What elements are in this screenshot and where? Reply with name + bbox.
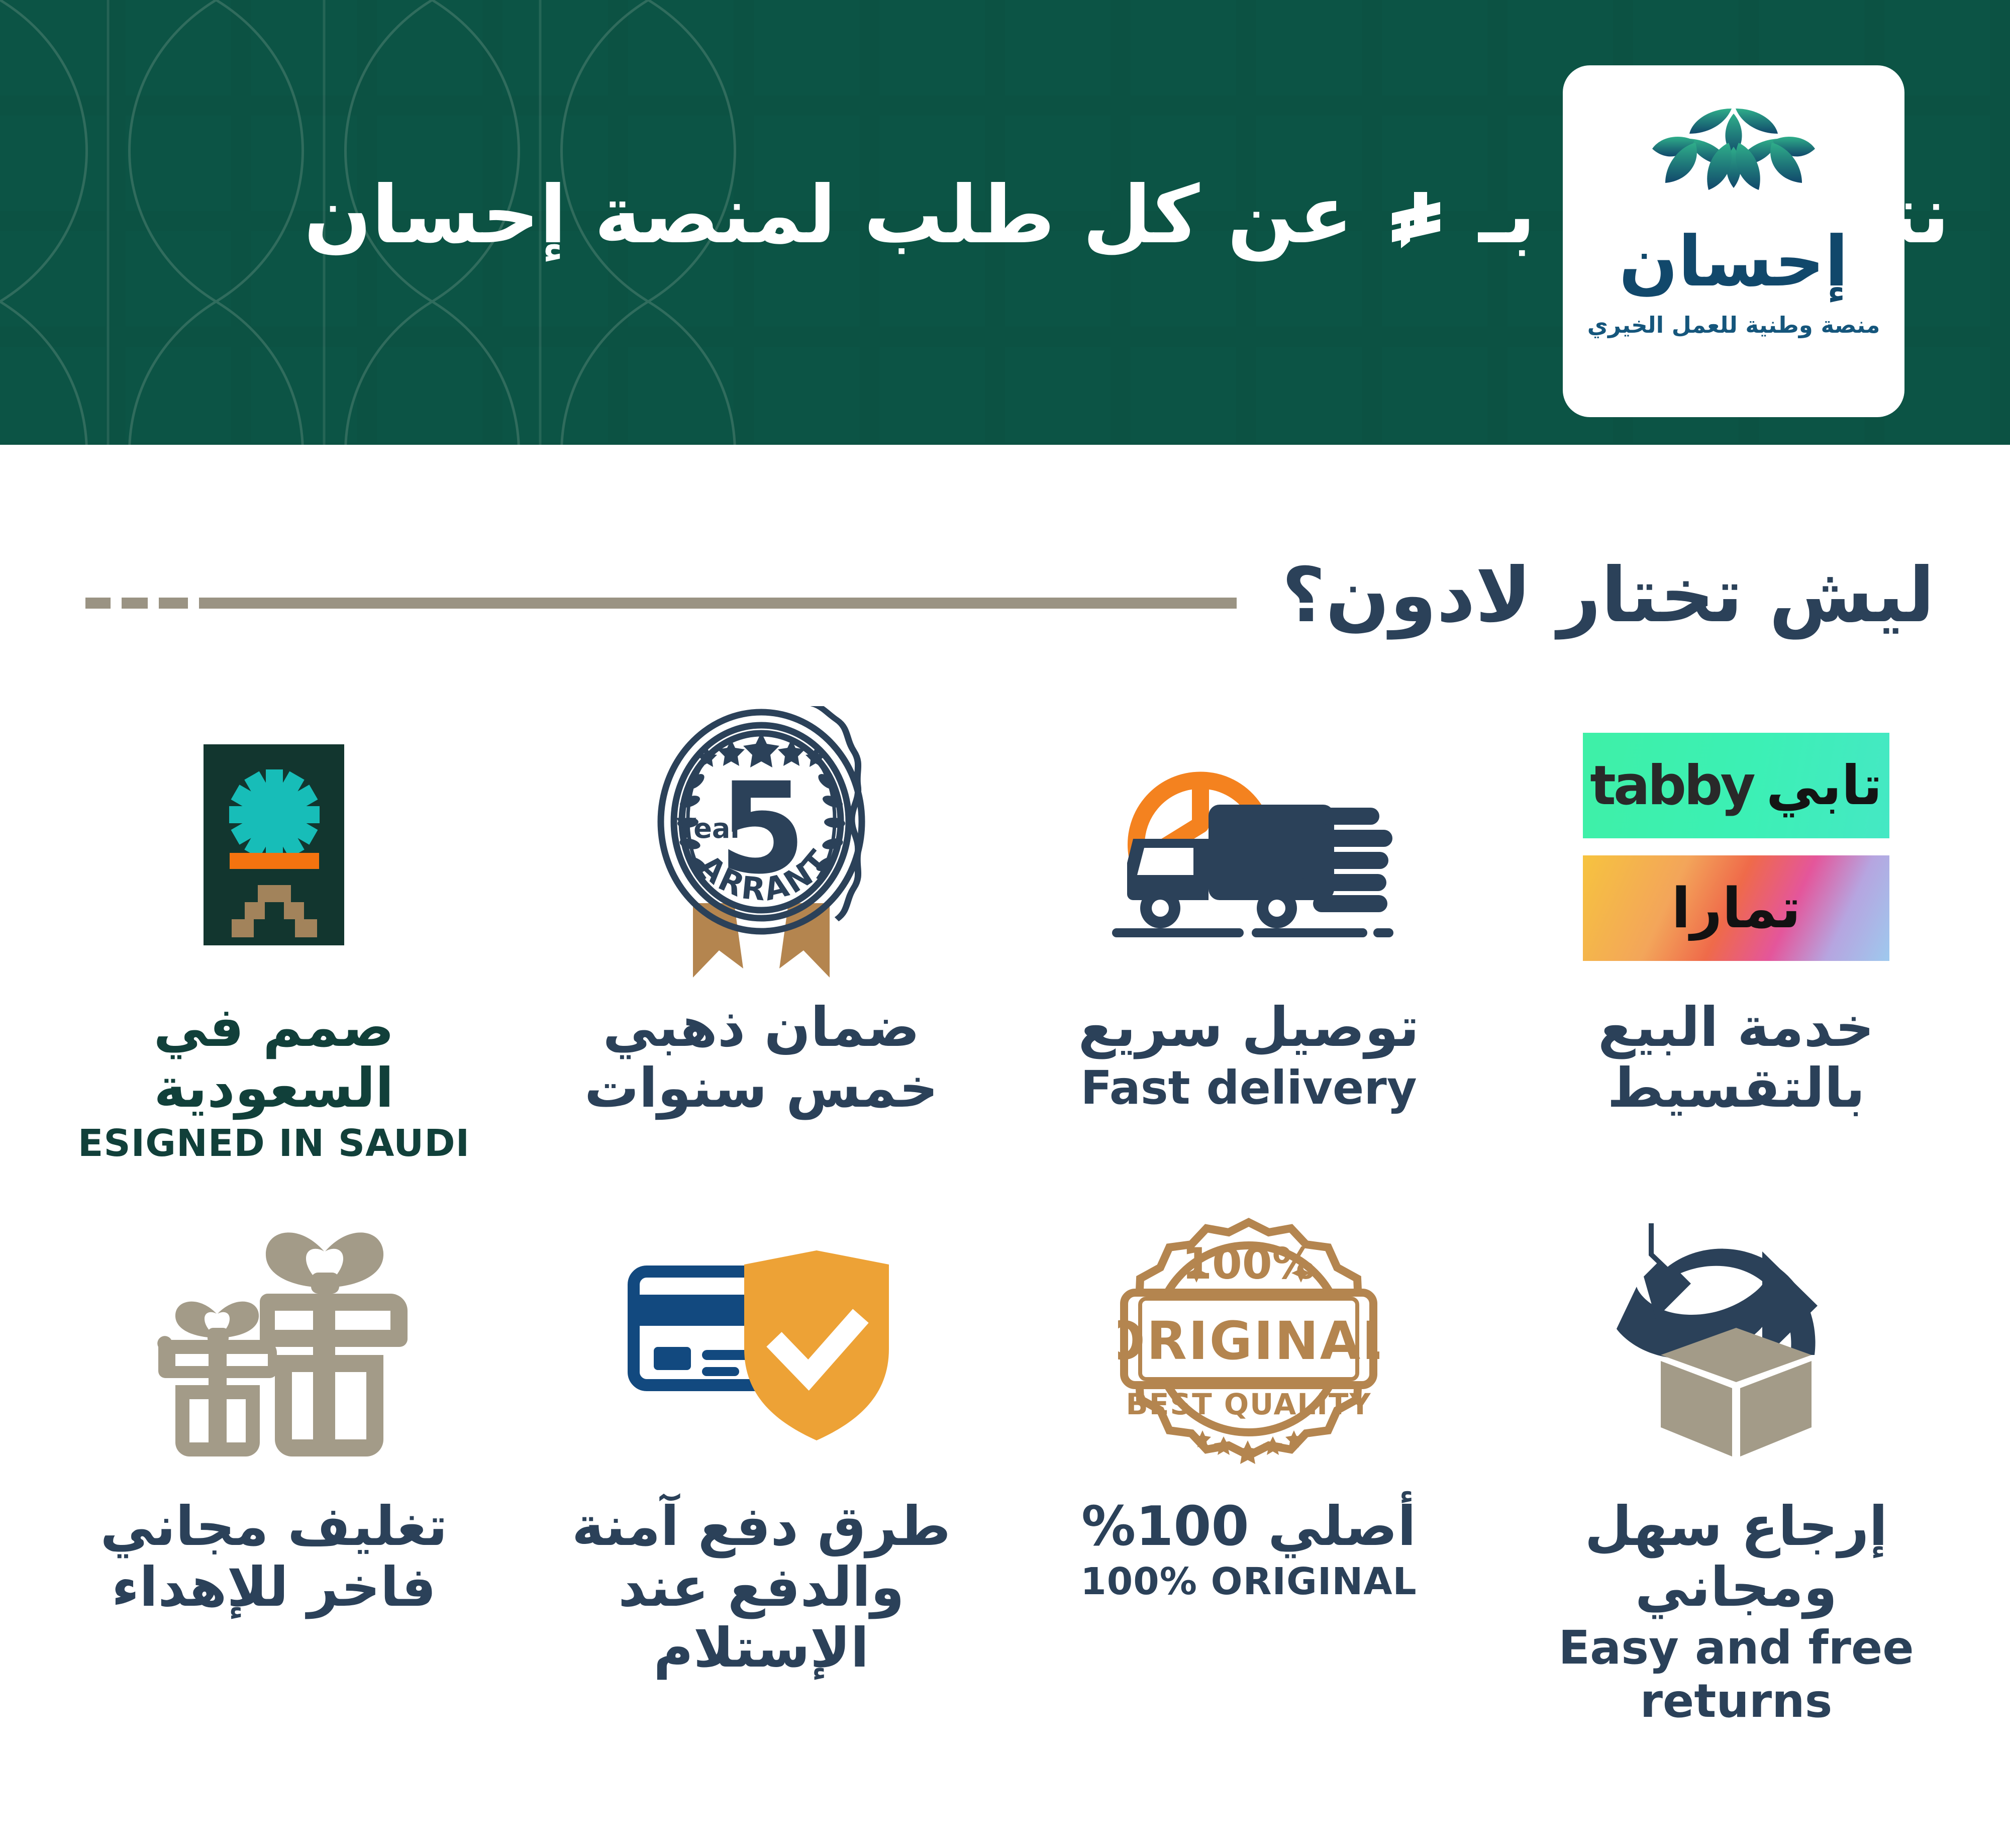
tabby-latin-wordmark: tabby bbox=[1590, 754, 1753, 817]
divider-dash-1 bbox=[159, 598, 188, 609]
feature-fast-delivery-label-en: Fast delivery bbox=[1078, 1061, 1419, 1115]
five-year-warranty-badge-icon: 5 Year WARRANTY bbox=[631, 696, 892, 998]
feature-installments-label-ar: خدمة البيع بالتقسيط bbox=[1598, 998, 1874, 1119]
feature-designed-in-saudi-labels: صمم في السعودية ESIGNED IN SAUDI bbox=[78, 998, 470, 1165]
feature-fast-delivery-labels: توصيل سريع Fast delivery bbox=[1078, 998, 1419, 1115]
feature-secure-payment-labels: طرق دفع آمنة والدفع عند الإستلام bbox=[518, 1497, 1005, 1679]
divider-dash-3 bbox=[85, 598, 111, 609]
feature-secure-payment: طرق دفع آمنة والدفع عند الإستلام bbox=[518, 1195, 1005, 1728]
page-title: ليش تختار لادون؟ bbox=[1282, 552, 1935, 639]
feature-original-label-en: 100% ORIGINAL bbox=[1080, 1561, 1417, 1603]
title-divider bbox=[85, 582, 1237, 609]
original-stamp-top: 100% bbox=[1182, 1239, 1316, 1289]
feature-free-gift-wrap: تغليف مجاني فاخر للإهداء bbox=[30, 1195, 518, 1728]
saudi-riyal-symbol-icon bbox=[1384, 175, 1448, 235]
installment-payment-logos-icon: تابي tabby تمارا bbox=[1583, 696, 1889, 998]
tamara-logo-icon: تمارا bbox=[1583, 855, 1889, 961]
ehsan-logo-card: إحسان منصة وطنية للعمل الخيري bbox=[1563, 65, 1904, 417]
warranty-badge-unit: Year bbox=[676, 813, 744, 844]
feature-installments-labels: خدمة البيع بالتقسيط bbox=[1598, 998, 1874, 1119]
tamara-arabic-wordmark: تمارا bbox=[1671, 876, 1800, 940]
feature-original-label-ar: أصلي 100% bbox=[1080, 1497, 1417, 1558]
features-grid: تابي tabby تمارا خدمة البيع بالتقسيط bbox=[0, 686, 2010, 1748]
feature-free-gift-wrap-label-ar: تغليف مجاني فاخر للإهداء bbox=[100, 1497, 448, 1618]
feature-designed-in-saudi-label-en: ESIGNED IN SAUDI bbox=[78, 1122, 470, 1165]
feature-easy-returns: إرجاع سهل ومجاني Easy and free returns bbox=[1492, 1195, 1980, 1728]
feature-fast-delivery: توصيل سريع Fast delivery bbox=[1005, 696, 1492, 1165]
promo-banner: نتبرع عنك بـ عن كل طلب لمنصة إحسان bbox=[0, 0, 2010, 445]
credit-card-shield-check-icon bbox=[621, 1195, 902, 1497]
feature-easy-returns-label-ar: إرجاع سهل ومجاني bbox=[1492, 1497, 1980, 1618]
feature-warranty: 5 Year WARRANTY ضمان ذهبي خمس سنوات bbox=[518, 696, 1005, 1165]
feature-installments: تابي tabby تمارا خدمة البيع بالتقسيط bbox=[1492, 696, 1980, 1165]
feature-designed-in-saudi: صمم في السعودية ESIGNED IN SAUDI bbox=[30, 696, 518, 1165]
feature-fast-delivery-label-ar: توصيل سريع bbox=[1078, 998, 1419, 1058]
tabby-arabic-wordmark: تابي bbox=[1766, 754, 1882, 817]
designed-in-saudi-emblem-icon bbox=[183, 696, 364, 998]
tabby-logo-icon: تابي tabby bbox=[1583, 733, 1889, 838]
feature-original: 100% ORIGINAL BEST QUALITY أصلي 100% 100… bbox=[1005, 1195, 1492, 1728]
feature-secure-payment-label-ar: طرق دفع آمنة والدفع عند الإستلام bbox=[518, 1497, 1005, 1679]
ehsan-logo-name: إحسان bbox=[1619, 227, 1849, 297]
divider-bar-long bbox=[199, 598, 1237, 609]
feature-easy-returns-label-en: Easy and free returns bbox=[1492, 1621, 1980, 1728]
feature-original-labels: أصلي 100% 100% ORIGINAL bbox=[1080, 1497, 1417, 1603]
gift-boxes-icon bbox=[133, 1195, 415, 1497]
divider-dash-2 bbox=[122, 598, 148, 609]
ehsan-logo-tagline: منصة وطنية للعمل الخيري bbox=[1587, 312, 1880, 338]
feature-warranty-label-ar: ضمان ذهبي خمس سنوات bbox=[584, 998, 938, 1119]
feature-easy-returns-labels: إرجاع سهل ومجاني Easy and free returns bbox=[1492, 1497, 1980, 1728]
feature-designed-in-saudi-label-ar: صمم في السعودية bbox=[78, 998, 470, 1119]
why-choose-section-header: ليش تختار لادون؟ bbox=[0, 505, 2010, 686]
feature-free-gift-wrap-labels: تغليف مجاني فاخر للإهداء bbox=[100, 1497, 448, 1618]
original-stamp-mid: ORIGINAL bbox=[1118, 1310, 1379, 1372]
feature-warranty-labels: ضمان ذهبي خمس سنوات bbox=[584, 998, 938, 1119]
promo-headline-tail: عن كل طلب لمنصة إحسان bbox=[304, 169, 1353, 261]
delivery-truck-clock-icon bbox=[1098, 696, 1399, 998]
ehsan-leaves-logo-icon bbox=[1633, 94, 1834, 220]
original-quality-stamp-icon: 100% ORIGINAL BEST QUALITY bbox=[1118, 1195, 1379, 1497]
return-box-arrow-icon bbox=[1605, 1195, 1867, 1497]
original-stamp-bottom: BEST QUALITY bbox=[1126, 1387, 1372, 1421]
